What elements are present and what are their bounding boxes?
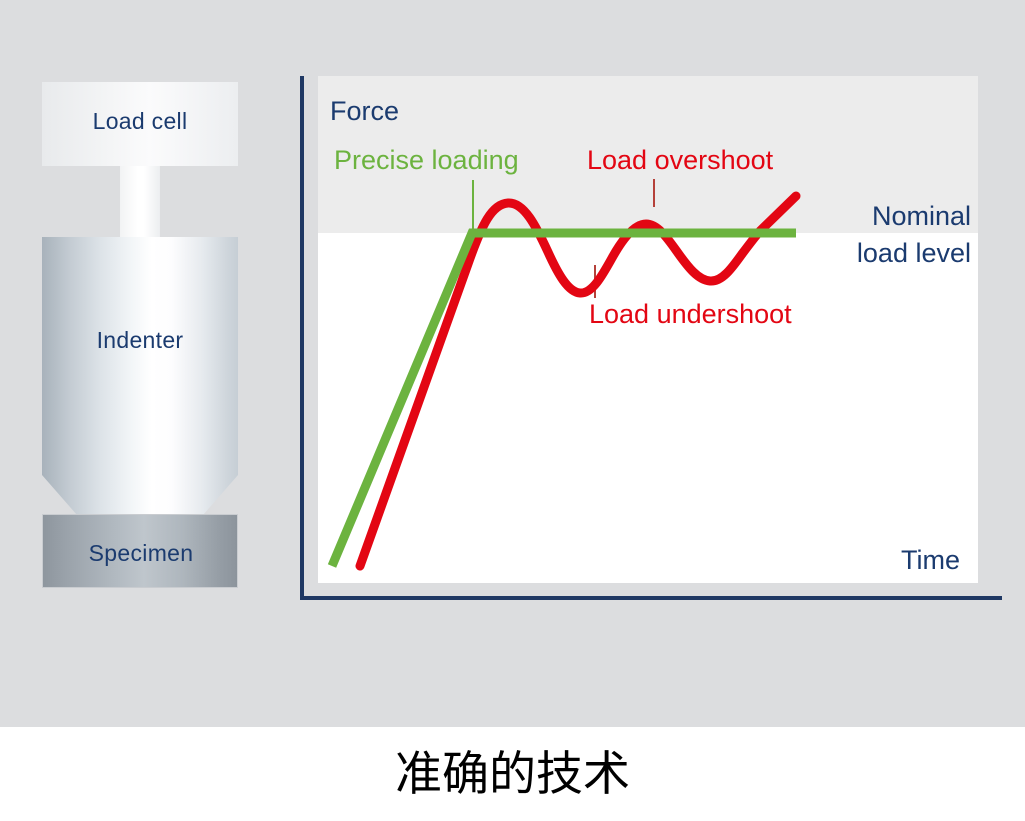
- indenter-shaft: [120, 166, 160, 238]
- annotation-precise-loading: Precise loading: [334, 145, 519, 175]
- annotation-load-overshoot: Load overshoot: [587, 145, 774, 175]
- load-cell-block: Load cell: [42, 82, 238, 166]
- indenter-label: Indenter: [42, 327, 238, 354]
- nominal-load-level-line1: Nominal: [872, 201, 971, 231]
- specimen-block: Specimen: [42, 514, 238, 588]
- specimen-label: Specimen: [43, 540, 239, 567]
- x-axis-label: Time: [901, 545, 960, 575]
- force-time-chart: Force Time Precise loading Load overshoo…: [296, 76, 1008, 604]
- chart-canvas: Force Time Precise loading Load overshoo…: [296, 76, 1008, 604]
- annotation-load-undershoot: Load undershoot: [589, 299, 792, 329]
- nominal-load-level-line2: load level: [857, 238, 971, 268]
- figure-page: Load cell Indenter Specimen Force Time P…: [0, 0, 1025, 821]
- y-axis-label: Force: [330, 96, 399, 126]
- load-cell-label: Load cell: [42, 108, 238, 135]
- figure-caption: 准确的技术: [0, 735, 1025, 804]
- apparatus-diagram: Load cell Indenter Specimen: [42, 82, 238, 588]
